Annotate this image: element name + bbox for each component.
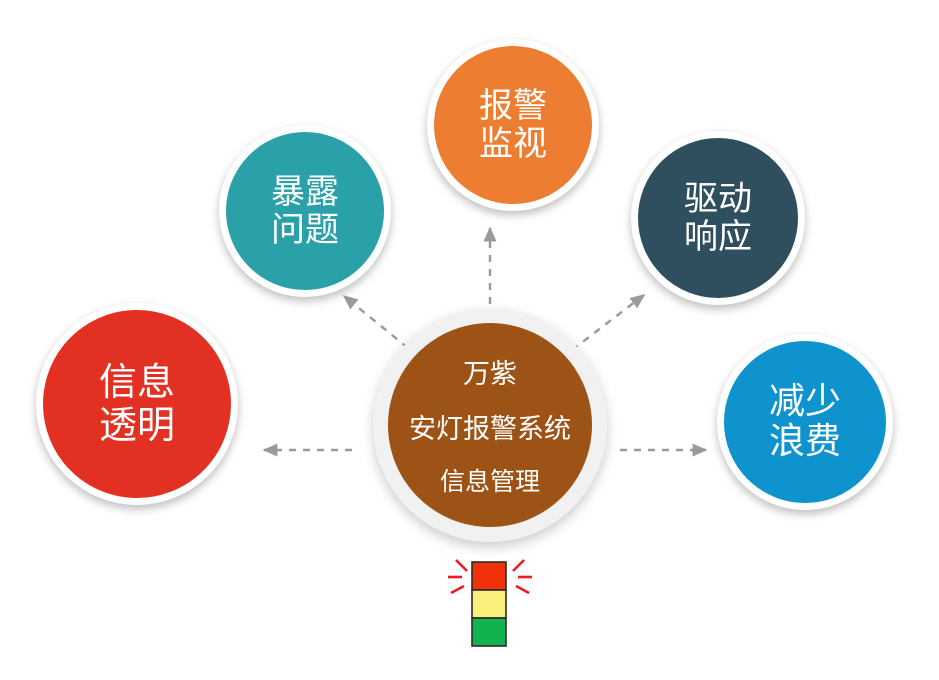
node-alarm-monitor-line1: 报警	[479, 87, 547, 125]
node-alarm-monitor[interactable]: 报警 监视	[427, 39, 599, 211]
node-drive-response-line1: 驱动	[684, 180, 752, 218]
lamp-yellow	[472, 590, 506, 618]
node-drive-response[interactable]: 驱动 响应	[631, 131, 805, 305]
node-expose-problems[interactable]: 暴露 问题	[219, 125, 391, 297]
node-reduce-waste-line1: 减少	[769, 382, 841, 422]
node-drive-response-line2: 响应	[684, 218, 752, 256]
node-information-transparency-line2: 透明	[99, 404, 175, 447]
node-expose-problems-line1: 暴露	[271, 173, 339, 211]
node-information-transparency-line1: 信息	[99, 361, 175, 404]
node-reduce-waste[interactable]: 减少 浪费	[717, 334, 893, 510]
center-hub-line2: 安灯报警系统	[409, 407, 571, 446]
node-information-transparency[interactable]: 信息 透明	[36, 303, 238, 505]
arrow-to-drive-response	[572, 295, 644, 350]
center-hub-line3: 信息管理	[440, 462, 540, 498]
center-hub[interactable]: 万紫 安灯报警系统 信息管理	[388, 323, 592, 527]
andon-lamp-stack	[472, 562, 506, 646]
diagram-canvas: 万紫 安灯报警系统 信息管理 报警 监视 暴露 问题 驱动 响应 信息 透明 减…	[0, 0, 939, 680]
lamp-red	[472, 562, 506, 590]
node-expose-problems-line2: 问题	[271, 211, 339, 249]
node-alarm-monitor-line2: 监视	[479, 125, 547, 163]
node-reduce-waste-line2: 浪费	[769, 422, 841, 462]
center-hub-line1: 万紫	[463, 352, 517, 391]
arrow-to-expose-problems	[344, 296, 408, 348]
andon-stack-light[interactable]	[438, 548, 542, 652]
lamp-green	[472, 618, 506, 646]
